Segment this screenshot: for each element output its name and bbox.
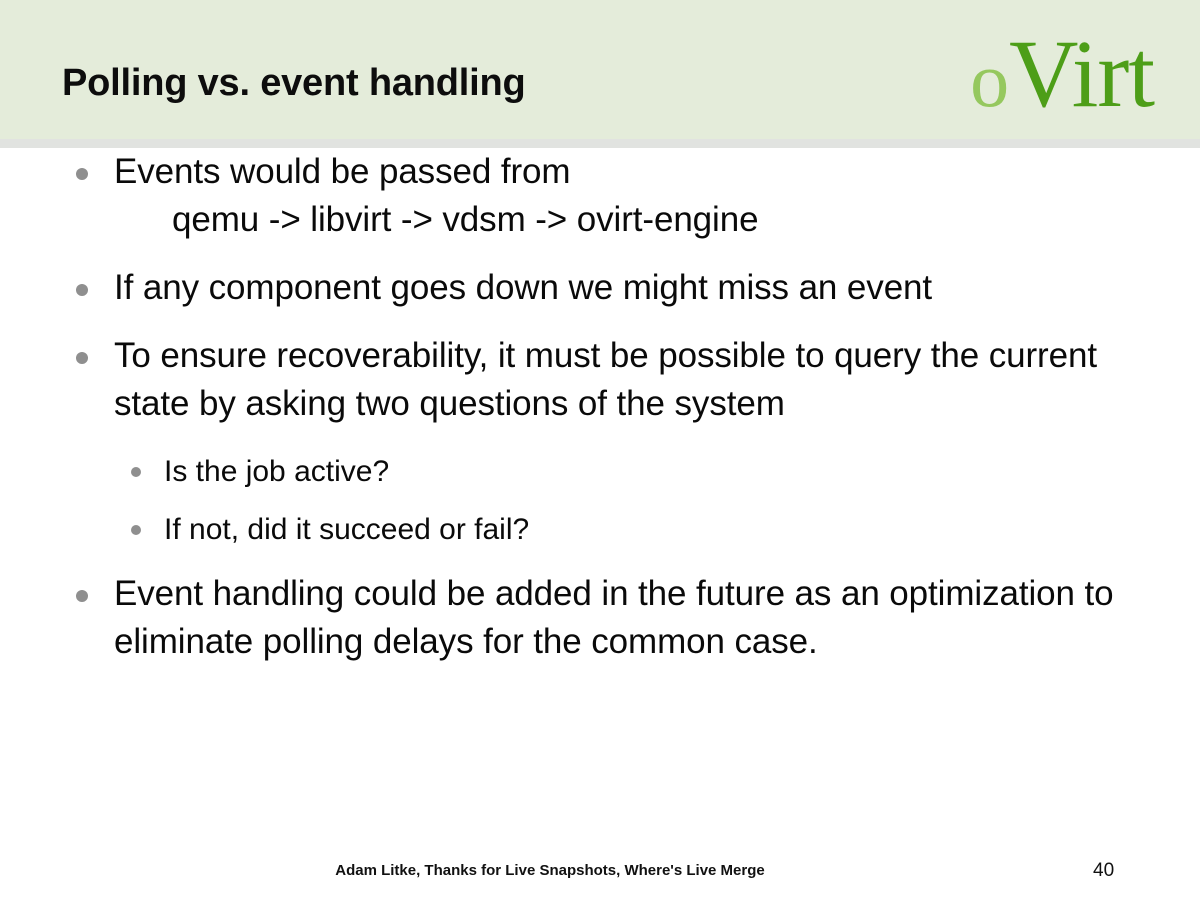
- spacer: [0, 244, 1200, 264]
- bullet-marker-icon: [131, 450, 164, 477]
- spacer: [0, 494, 1200, 508]
- presentation-slide: Polling vs. event handling oVirt Events …: [0, 0, 1200, 900]
- slide-body: Events would be passed from qemu -> libv…: [0, 148, 1200, 666]
- list-item: To ensure recoverability, it must be pos…: [76, 332, 1160, 428]
- bullet-marker-icon: [76, 570, 114, 602]
- list-item: Is the job active?: [131, 450, 1160, 494]
- spacer: [0, 428, 1200, 450]
- bullet-text: Events would be passed from: [114, 152, 570, 191]
- bullet-text: If any component goes down we might miss…: [114, 264, 932, 312]
- bullet-marker-icon: [131, 508, 164, 535]
- bullet-text: To ensure recoverability, it must be pos…: [114, 332, 1160, 428]
- bullet-marker-icon: [76, 148, 114, 180]
- spacer: [0, 312, 1200, 332]
- page-number: 40: [1093, 860, 1114, 882]
- list-item: Event handling could be added in the fut…: [76, 570, 1160, 666]
- bullet-text: Is the job active?: [164, 450, 389, 494]
- bullet-marker-icon: [76, 264, 114, 296]
- spacer: [0, 552, 1200, 570]
- bullet-subline: qemu -> libvirt -> vdsm -> ovirt-engine: [172, 196, 758, 244]
- bullet-text-group: Events would be passed from qemu -> libv…: [114, 148, 758, 244]
- slide-footer: Adam Litke, Thanks for Live Snapshots, W…: [0, 862, 1100, 879]
- list-item: Events would be passed from qemu -> libv…: [76, 148, 1160, 244]
- list-item: If not, did it succeed or fail?: [131, 508, 1160, 552]
- list-item: If any component goes down we might miss…: [76, 264, 1160, 312]
- page-title: Polling vs. event handling: [62, 62, 526, 105]
- logo-virt-text: Virt: [1009, 20, 1154, 127]
- ovirt-logo: oVirt: [970, 26, 1154, 122]
- bullet-text: Event handling could be added in the fut…: [114, 570, 1160, 666]
- bullet-text: If not, did it succeed or fail?: [164, 508, 529, 552]
- bullet-marker-icon: [76, 332, 114, 364]
- logo-o-glyph: o: [970, 36, 1009, 123]
- header-divider: [0, 139, 1200, 148]
